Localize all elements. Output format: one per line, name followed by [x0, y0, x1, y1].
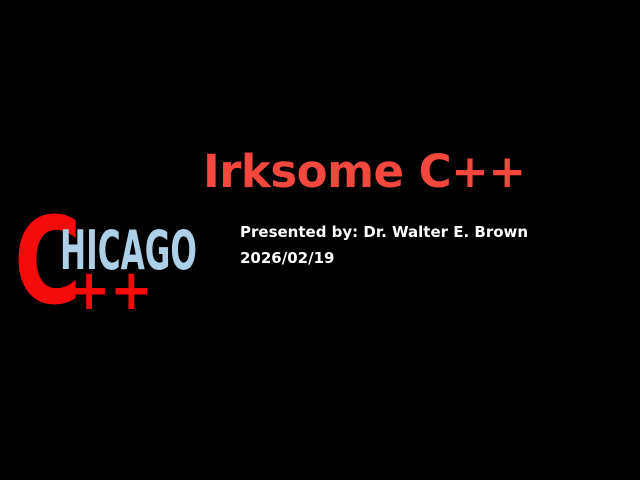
date-line: 2026/02/19 — [240, 245, 610, 271]
subtitle-block: Presented by: Dr. Walter E. Brown 2026/0… — [240, 219, 610, 271]
title-slide: C HICAGO ++ Irksome C++ Presented by: Dr… — [0, 0, 640, 480]
logo-plus-plus: ++ — [68, 266, 152, 316]
page-title: Irksome C++ — [203, 146, 526, 198]
presenter-line: Presented by: Dr. Walter E. Brown — [240, 219, 610, 245]
chicago-cpp-logo: C HICAGO ++ — [12, 206, 222, 316]
